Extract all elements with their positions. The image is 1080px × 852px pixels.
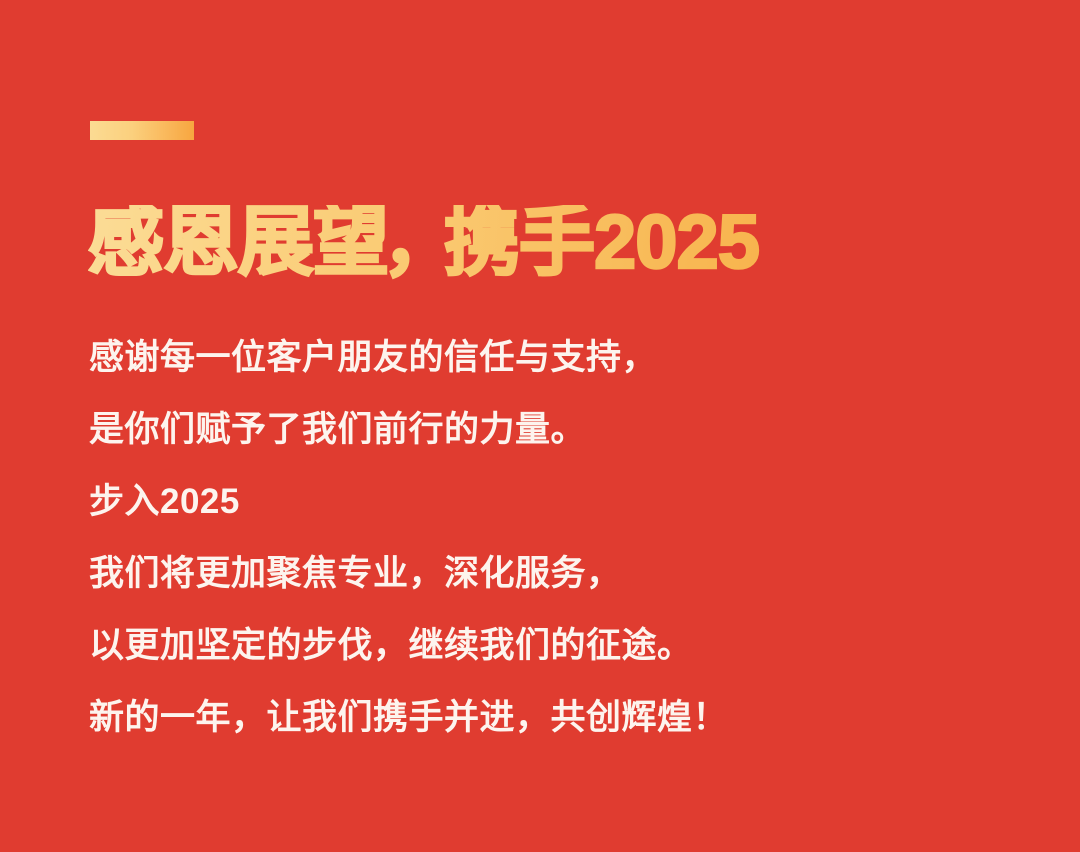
body-line: 我们将更加聚焦专业，深化服务， [89, 538, 1029, 610]
headline-comma: ， [382, 200, 440, 285]
body-line: 新的一年，让我们携手并进，共创辉煌！ [89, 682, 1029, 754]
headline-main-text: 感恩展望 [88, 200, 388, 285]
body-line: 是你们赋予了我们前行的力量。 [89, 394, 1029, 466]
body-line: 步入2025 [89, 466, 1029, 538]
body-copy-block: 感谢每一位客户朋友的信任与支持， 是你们赋予了我们前行的力量。 步入2025 我… [89, 322, 1029, 754]
headline-tail-text: 携手2025 [444, 200, 759, 285]
body-line: 以更加坚定的步伐，继续我们的征途。 [89, 610, 1029, 682]
greeting-poster: 感恩展望，携手2025 感谢每一位客户朋友的信任与支持， 是你们赋予了我们前行的… [0, 0, 1080, 852]
page-title: 感恩展望，携手2025 [88, 205, 988, 281]
accent-bar-decoration [90, 121, 194, 140]
body-line: 感谢每一位客户朋友的信任与支持， [89, 322, 1029, 394]
